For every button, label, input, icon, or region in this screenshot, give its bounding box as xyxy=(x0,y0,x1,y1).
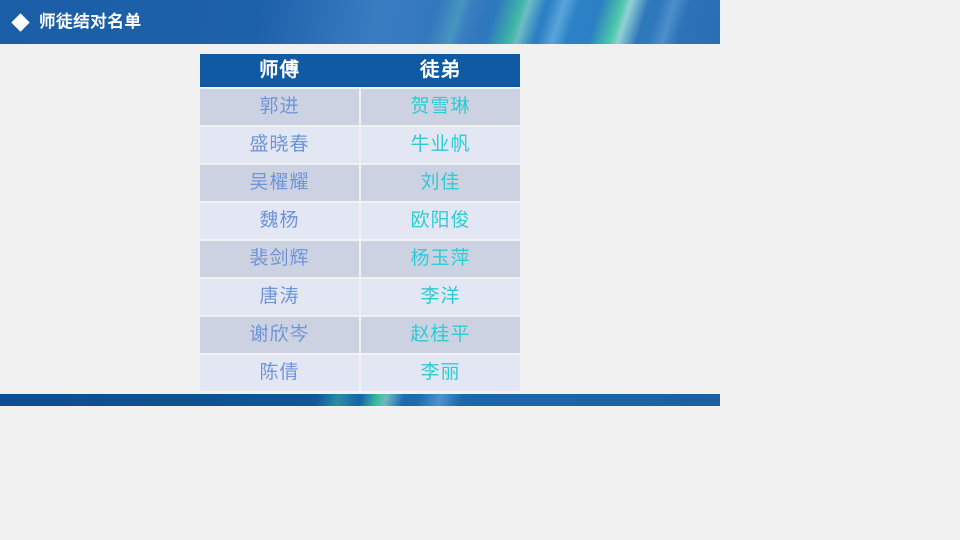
cell-apprentice: 牛业帆 xyxy=(361,127,520,163)
cell-master: 魏杨 xyxy=(200,203,359,239)
table-row: 郭进贺雪琳 xyxy=(200,89,520,125)
cell-apprentice: 刘佳 xyxy=(361,165,520,201)
cell-apprentice: 赵桂平 xyxy=(361,317,520,353)
cell-apprentice: 李丽 xyxy=(361,355,520,391)
table-row: 盛晓春牛业帆 xyxy=(200,127,520,163)
bottom-accent-bar xyxy=(0,394,720,406)
cell-apprentice: 贺雪琳 xyxy=(361,89,520,125)
cell-master: 吴櫂耀 xyxy=(200,165,359,201)
column-header-apprentice: 徒弟 xyxy=(361,54,520,87)
mentor-apprentice-table: 师傅 徒弟 郭进贺雪琳盛晓春牛业帆吴櫂耀刘佳魏杨欧阳俊裴剑辉杨玉萍唐涛李洋谢欣岑… xyxy=(200,54,520,391)
table-body: 郭进贺雪琳盛晓春牛业帆吴櫂耀刘佳魏杨欧阳俊裴剑辉杨玉萍唐涛李洋谢欣岑赵桂平陈倩李… xyxy=(200,87,520,391)
cell-master: 裴剑辉 xyxy=(200,241,359,277)
table-row: 谢欣岑赵桂平 xyxy=(200,317,520,353)
table-row: 裴剑辉杨玉萍 xyxy=(200,241,520,277)
cell-master: 郭进 xyxy=(200,89,359,125)
table-row: 唐涛李洋 xyxy=(200,279,520,315)
page-title: 师徒结对名单 xyxy=(39,14,142,31)
cell-master: 盛晓春 xyxy=(200,127,359,163)
cell-master: 唐涛 xyxy=(200,279,359,315)
table-head: 师傅 徒弟 xyxy=(200,54,520,87)
cell-apprentice: 欧阳俊 xyxy=(361,203,520,239)
banner-content: 师徒结对名单 xyxy=(0,0,142,44)
cell-apprentice: 杨玉萍 xyxy=(361,241,520,277)
slide-title-banner: 师徒结对名单 xyxy=(0,0,720,44)
table-row: 陈倩李丽 xyxy=(200,355,520,391)
cell-master: 谢欣岑 xyxy=(200,317,359,353)
cell-apprentice: 李洋 xyxy=(361,279,520,315)
diamond-bullet-icon xyxy=(11,13,29,31)
table-header-row: 师傅 徒弟 xyxy=(200,54,520,87)
cell-master: 陈倩 xyxy=(200,355,359,391)
table-row: 魏杨欧阳俊 xyxy=(200,203,520,239)
column-header-master: 师傅 xyxy=(200,54,359,87)
table-row: 吴櫂耀刘佳 xyxy=(200,165,520,201)
